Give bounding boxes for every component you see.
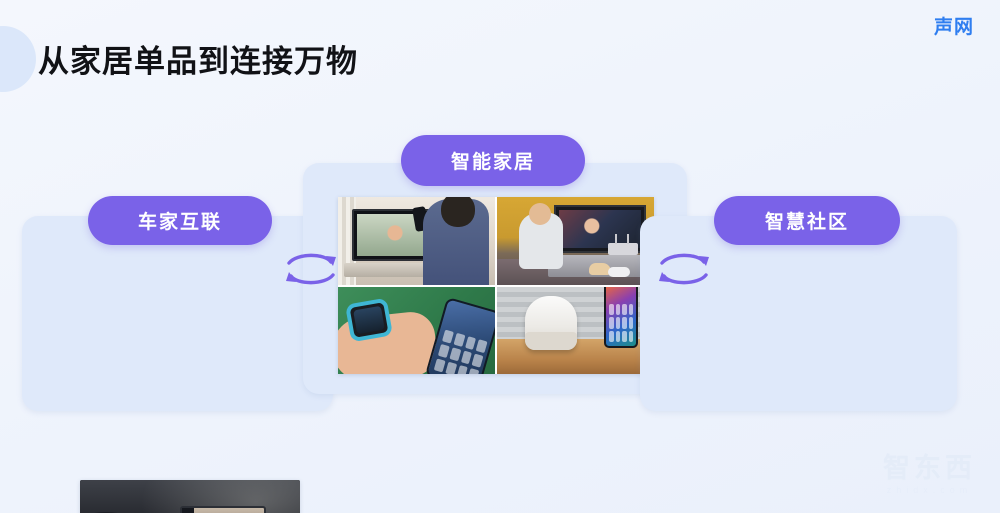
car-interior-photo	[80, 480, 300, 513]
app-icon	[622, 317, 627, 328]
watermark: 智东西 zhidx.com	[883, 455, 976, 495]
app-icon	[449, 347, 461, 361]
watch-face	[353, 305, 385, 333]
label-car-home-connection[interactable]: 车家互联	[88, 196, 272, 245]
photo-tv-video-call	[338, 197, 495, 285]
photo-smart-speaker	[497, 287, 654, 375]
sync-arrows-icon-left	[281, 247, 341, 291]
page-title: 从家居单品到连接万物	[38, 36, 358, 81]
person-head	[441, 197, 475, 227]
label-smart-home[interactable]: 智能家居	[401, 135, 585, 186]
photo-living-room-tv	[497, 197, 654, 285]
app-icon	[476, 339, 488, 353]
phone-app-grid	[434, 329, 488, 374]
car-interior-scene	[80, 480, 300, 513]
watch-phone-scene	[338, 287, 495, 375]
app-icon	[609, 317, 614, 328]
car-center-screen	[180, 506, 266, 513]
app-icon	[468, 368, 480, 374]
app-icon	[434, 358, 446, 372]
smart-speaker	[525, 296, 577, 350]
brand-logo: 声网	[934, 12, 974, 39]
robot-vacuum	[608, 267, 630, 277]
app-icon	[465, 336, 477, 350]
seated-person	[519, 213, 563, 269]
app-icon	[629, 304, 634, 315]
app-icon	[616, 317, 621, 328]
decorative-circle	[0, 26, 36, 92]
smart-speaker-scene	[497, 287, 654, 375]
card-smart-community[interactable]: 私家住宅 非请勿入	[640, 216, 957, 411]
watermark-url: zhidx.com	[883, 485, 976, 495]
card-car-home-connection[interactable]	[22, 216, 333, 411]
app-icon	[609, 331, 614, 342]
living-room-scene	[497, 197, 654, 285]
app-icon	[609, 304, 614, 315]
slide-canvas: 从家居单品到连接万物 声网 车家互联	[0, 0, 1000, 513]
car-screen-sidebar	[182, 508, 194, 513]
phone-app-grid	[609, 304, 633, 342]
app-icon	[442, 329, 454, 343]
car-screen-video-call	[194, 508, 264, 513]
app-icon	[616, 304, 621, 315]
app-icon	[456, 364, 468, 374]
smart-watch	[345, 297, 393, 342]
smartphone	[425, 296, 495, 374]
app-icon	[629, 331, 634, 342]
app-icon	[438, 343, 450, 357]
person-head	[529, 203, 551, 225]
app-icon	[472, 353, 484, 367]
app-icon	[453, 332, 465, 346]
speaker-base	[525, 332, 577, 350]
label-smart-community[interactable]: 智慧社区	[714, 196, 900, 245]
app-icon	[445, 361, 457, 374]
app-icon	[616, 331, 621, 342]
app-icon	[622, 331, 627, 342]
wifi-router	[608, 243, 638, 255]
photo-watch-phone	[338, 287, 495, 375]
smart-home-photo-grid	[338, 197, 654, 374]
watermark-logo-text: 智东西	[883, 455, 976, 482]
smartphone	[604, 287, 638, 349]
sync-arrows-icon-right	[654, 247, 714, 291]
app-icon	[460, 350, 472, 364]
app-icon	[622, 304, 627, 315]
app-icon	[629, 317, 634, 328]
tv-video-call-scene	[338, 197, 495, 285]
